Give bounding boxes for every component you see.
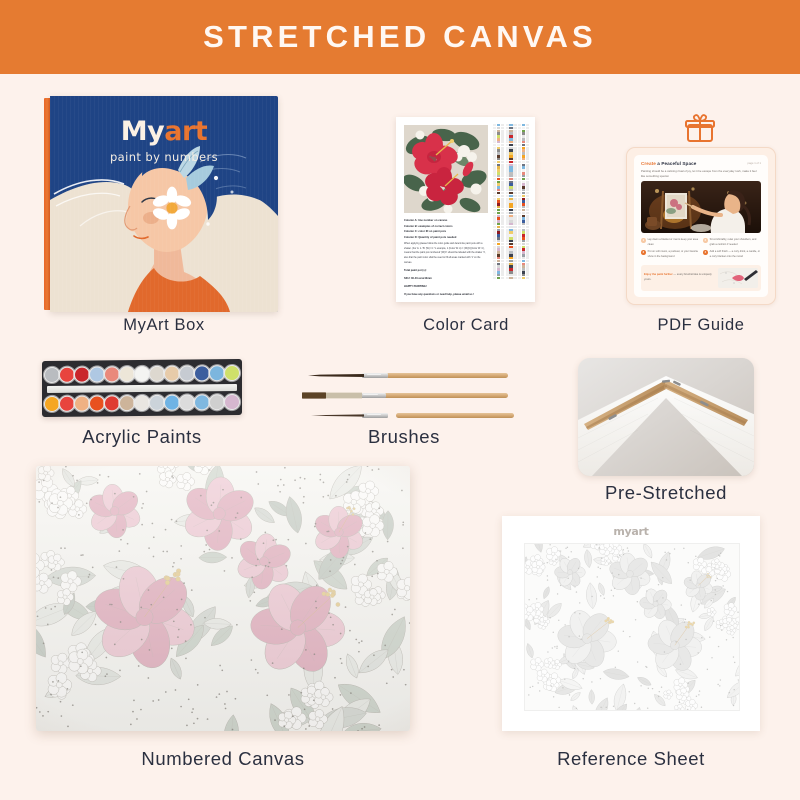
- numbered-canvas-image: [36, 466, 410, 731]
- paint-pot[interactable]: [120, 392, 134, 413]
- chart-code-cell: [526, 277, 529, 279]
- gift-icon: [683, 113, 717, 143]
- brush-ferrule: [362, 413, 388, 418]
- reference-lineart: [525, 544, 739, 710]
- brushes-image: [300, 372, 508, 430]
- paint-pot[interactable]: [165, 392, 179, 413]
- pre-stretched-image: [578, 358, 754, 476]
- paint-pot[interactable]: [60, 364, 74, 385]
- caption-brushes: Brushes: [300, 426, 508, 448]
- caption-pdf-guide: PDF Guide: [606, 316, 796, 335]
- paint-pot-color: [164, 394, 180, 410]
- paint-pot[interactable]: [180, 391, 194, 412]
- paint-pot[interactable]: [60, 393, 74, 414]
- paint-pot[interactable]: [225, 391, 239, 412]
- paint-pot-color: [134, 365, 150, 381]
- painting-hand-photo: [718, 268, 758, 288]
- color-card-sheet: Column A: line number on canvas Column B…: [396, 117, 535, 302]
- numbered-canvas-artwork: [36, 466, 410, 731]
- pdf-footer-thumbnail: [718, 268, 758, 288]
- brush-round: [306, 372, 508, 379]
- paint-pot-color: [89, 366, 105, 382]
- instruction-paragraph: When applying please follow the color gu…: [404, 242, 488, 265]
- paint-pot-color: [104, 395, 120, 411]
- pdf-tip: 4 Add a soft finish — a cozy drink, a ca…: [703, 250, 761, 259]
- reference-sheet-logo: myart: [502, 525, 760, 538]
- pdf-tip-text: Lay down a blanket or mat to keep your a…: [648, 238, 699, 247]
- paint-pot-color: [119, 395, 135, 411]
- pdf-heading: Create a Peaceful Space: [641, 161, 696, 166]
- paint-pot[interactable]: [225, 362, 239, 383]
- paint-pot-color: [149, 365, 165, 381]
- paint-pot-color: [149, 394, 165, 410]
- box-logo-art: art: [164, 116, 207, 147]
- paint-pot[interactable]: [180, 362, 194, 383]
- happy-painting-label: HAPPY PAINTING!: [404, 284, 488, 290]
- paint-pot[interactable]: [90, 392, 104, 413]
- color-chart-row: [518, 277, 529, 279]
- column-line-d: Column D: Quantity of paint pots needed: [404, 235, 488, 241]
- brush-handle: [396, 413, 514, 418]
- color-chart-row: [493, 277, 504, 279]
- brush-ferrule: [358, 393, 386, 398]
- pdf-tip: 1 Lay down a blanket or mat to keep your…: [641, 238, 699, 247]
- paint-pot-color: [119, 366, 135, 382]
- canvas-corner-photo: [578, 358, 754, 476]
- paint-pot[interactable]: [120, 363, 134, 384]
- paint-pot-color: [179, 394, 195, 410]
- acrylic-paints-image: [42, 360, 242, 416]
- paint-pot[interactable]: [45, 393, 59, 414]
- paint-pot-color: [179, 365, 195, 381]
- chart-swatch-cell: [497, 277, 500, 279]
- box-logo: Myart: [50, 118, 278, 145]
- paint-pot-color: [74, 395, 90, 411]
- caption-myart-box: MyArt Box: [44, 316, 284, 335]
- caption-reference-sheet: Reference Sheet: [502, 748, 760, 770]
- paint-pot-color: [194, 394, 210, 410]
- paint-row-bottom: [45, 391, 239, 414]
- brush-tip: [300, 392, 362, 399]
- paint-pot-color: [194, 365, 210, 381]
- pdf-tips-list: 1 Lay down a blanket or mat to keep your…: [641, 238, 761, 259]
- pdf-tip: 2 Sit comfortably, relax your shoulders,…: [703, 238, 761, 247]
- paint-pot[interactable]: [135, 392, 149, 413]
- chart-swatch-cell: [522, 277, 525, 279]
- color-card-image: Column A: line number on canvas Column B…: [396, 117, 535, 302]
- reference-sheet-artwork: [524, 543, 740, 711]
- brush-tip: [306, 372, 364, 379]
- pdf-tip: 3 Put on soft music, a podcast, or your …: [641, 250, 699, 259]
- paint-pot-color: [44, 395, 60, 411]
- chart-code-cell: [501, 277, 504, 279]
- brush-detail: [310, 412, 514, 419]
- stretcher-frame-illustration: [578, 358, 754, 476]
- paint-pot[interactable]: [90, 363, 104, 384]
- pdf-tip-number: 2: [703, 238, 708, 243]
- color-chart-column-2: [506, 124, 517, 295]
- paint-pot-color: [164, 365, 180, 381]
- pdf-tip-number: 3: [641, 250, 646, 255]
- brush-tip: [310, 412, 364, 419]
- paint-pot-color: [209, 394, 225, 410]
- paint-pot-color: [224, 364, 240, 380]
- paint-pot-color: [104, 366, 120, 382]
- paint-pot[interactable]: [75, 364, 89, 385]
- brush-flat: [300, 392, 508, 399]
- pdf-page-label: page 1 of 1: [748, 162, 761, 165]
- brush-handle: [382, 393, 508, 398]
- paint-pot[interactable]: [210, 362, 224, 383]
- paint-pot-color: [209, 365, 225, 381]
- paint-pot[interactable]: [105, 363, 119, 384]
- color-chart-column-3: [518, 124, 529, 295]
- paint-pot[interactable]: [195, 362, 209, 383]
- caption-acrylic-paints: Acrylic Paints: [42, 426, 242, 448]
- pdf-tip-number: 4: [703, 250, 708, 255]
- box-tagline: paint by numbers: [50, 150, 278, 164]
- paint-pot[interactable]: [165, 363, 179, 384]
- caption-numbered-canvas: Numbered Canvas: [36, 748, 410, 770]
- pdf-guide-page: Create a Peaceful Space page 1 of 1 Pain…: [634, 155, 768, 297]
- paint-pot-color: [224, 393, 240, 409]
- myart-box-image: Myart paint by numbers: [44, 96, 278, 312]
- paint-pot[interactable]: [150, 363, 164, 384]
- color-chart-row: [506, 277, 517, 279]
- page-title: STRETCHED CANVAS: [203, 19, 597, 55]
- paint-pot[interactable]: [210, 391, 224, 412]
- pdf-footer-text: Enjoy the paint further — every brushstr…: [644, 273, 715, 283]
- paint-pot[interactable]: [135, 363, 149, 384]
- paint-pot-color: [59, 395, 75, 411]
- color-chart-table: [493, 124, 529, 295]
- sku-value: SKU: 30-40-xxxx10mm: [404, 276, 488, 282]
- paint-pot-color: [89, 395, 105, 411]
- paint-pot[interactable]: [195, 391, 209, 412]
- pdf-footer-callout: Enjoy the paint further — every brushstr…: [641, 265, 761, 291]
- color-card-photo: [404, 125, 488, 213]
- chart-code-cell: [513, 277, 516, 279]
- brush-ferrule: [362, 373, 388, 378]
- paint-pot[interactable]: [75, 393, 89, 414]
- reference-sheet-paper: myart: [502, 516, 760, 731]
- paint-pot-color: [74, 366, 90, 382]
- color-chart-column-1: [493, 124, 504, 295]
- caption-color-card: Color Card: [376, 316, 556, 335]
- pdf-heading-rest: a Peaceful Space: [656, 161, 697, 166]
- contact-line: If you have any questions or need help, …: [404, 292, 488, 298]
- caption-pre-stretched: Pre-Stretched: [578, 482, 754, 504]
- pdf-tip-text: Sit comfortably, relax your shoulders, a…: [710, 238, 761, 247]
- pdf-tip-text: Put on soft music, a podcast, or your fa…: [648, 250, 699, 259]
- pdf-heading-accent: Create: [641, 161, 656, 166]
- paint-pot[interactable]: [45, 364, 59, 385]
- reference-sheet-image: myart: [502, 516, 760, 731]
- chart-index-cell: [493, 277, 496, 279]
- header-banner: STRETCHED CANVAS: [0, 0, 800, 74]
- pdf-subtitle: Painting should be a calming ritual of j…: [641, 169, 759, 179]
- numbered-canvas-surface: [36, 466, 410, 731]
- box-front-face: Myart paint by numbers: [50, 96, 278, 312]
- paint-pot-color: [59, 366, 75, 382]
- total-paint-label: Total paint pot (s):: [404, 268, 488, 274]
- pdf-guide-image: Create a Peaceful Space page 1 of 1 Pain…: [626, 113, 774, 303]
- pdf-guide-card: Create a Peaceful Space page 1 of 1 Pain…: [626, 147, 776, 305]
- pdf-tip-text: Add a soft finish — a cozy drink, a cand…: [710, 250, 761, 259]
- pdf-hero-photo: [641, 181, 761, 233]
- hibiscus-painting: [404, 125, 488, 213]
- paint-pot-color: [44, 366, 60, 382]
- infographic-page: STRETCHED CANVAS: [0, 0, 800, 800]
- paint-pot[interactable]: [150, 392, 164, 413]
- paint-row-top: [45, 362, 239, 385]
- woman-painting-photo: [641, 181, 761, 233]
- pdf-footer-accent: Enjoy the paint further: [644, 273, 673, 276]
- chart-index-cell: [506, 277, 509, 279]
- paint-pot[interactable]: [105, 392, 119, 413]
- paint-tray: [42, 359, 242, 417]
- color-card-instructions: Column A: line number on canvas Column B…: [404, 218, 488, 297]
- paint-pot-color: [134, 394, 150, 410]
- box-logo-my: My: [121, 116, 164, 147]
- paint-tray-inner: [45, 362, 239, 414]
- pdf-tip-number: 1: [641, 238, 646, 243]
- chart-swatch-cell: [509, 277, 512, 279]
- chart-index-cell: [518, 277, 521, 279]
- brush-handle: [386, 373, 508, 378]
